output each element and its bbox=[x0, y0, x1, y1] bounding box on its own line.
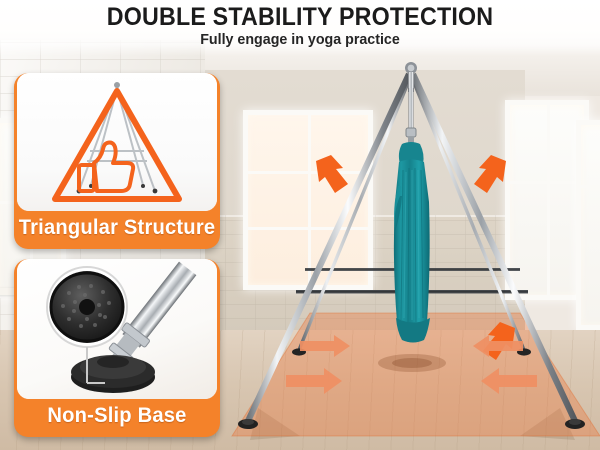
feature-callouts: Triangular Structure bbox=[14, 70, 220, 447]
header-banner: DOUBLE STABILITY PROTECTION Fully engage… bbox=[0, 0, 600, 56]
callout-image-triangular-structure bbox=[17, 73, 217, 211]
hammock-strap bbox=[406, 88, 416, 145]
product-marketing-image: DOUBLE STABILITY PROTECTION Fully engage… bbox=[0, 0, 600, 450]
callout-label-triangular-structure: Triangular Structure bbox=[18, 211, 216, 245]
rubber-foot-magnifier-icon bbox=[17, 259, 217, 399]
page-title: DOUBLE STABILITY PROTECTION bbox=[21, 0, 579, 31]
callout-image-non-slip-base bbox=[17, 259, 217, 399]
callout-card-triangular-structure[interactable]: Triangular Structure bbox=[14, 73, 220, 249]
callout-card-non-slip-base[interactable]: Non-Slip Base bbox=[14, 259, 220, 437]
rubber-foot bbox=[71, 355, 155, 393]
callout-label-non-slip-base: Non-Slip Base bbox=[18, 399, 216, 433]
teal-hammock bbox=[394, 142, 430, 343]
triangle-stand-thumbs-up-icon bbox=[17, 73, 217, 211]
page-subtitle: Fully engage in yoga practice bbox=[15, 31, 585, 49]
